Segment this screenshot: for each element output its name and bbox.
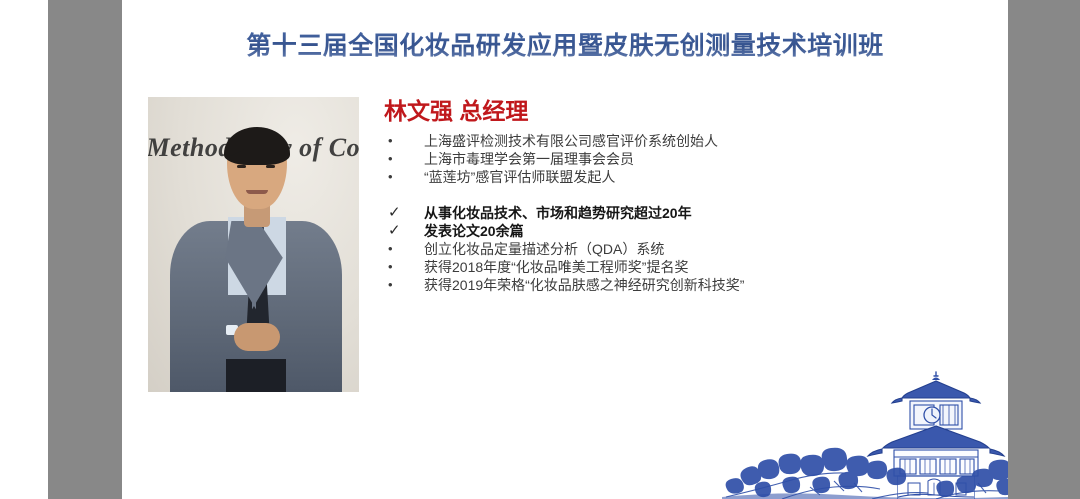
credential-row: ✓发表论文20余篇 (384, 222, 984, 240)
credential-text: 获得2019年荣格“化妆品肤感之神经研究创新科技奖” (424, 276, 744, 294)
person-figure (148, 97, 359, 392)
eye-right (266, 165, 275, 168)
credential-row: •创立化妆品定量描述分析（QDA）系统 (384, 240, 984, 258)
bullet-icon: • (384, 132, 424, 150)
trousers (226, 359, 286, 392)
bullet-icon: • (384, 240, 424, 258)
credential-row: •上海市毒理学会第一届理事会会员 (384, 150, 984, 168)
credentials-list: •上海盛评检测技术有限公司感官评价系统创始人•上海市毒理学会第一届理事会会员•“… (384, 132, 984, 294)
pagoda-ginkgo-illustration (722, 371, 1008, 499)
credential-text: 创立化妆品定量描述分析（QDA）系统 (424, 240, 664, 258)
bullet-icon: • (384, 168, 424, 186)
credential-row: ✓从事化妆品技术、市场和趋势研究超过20年 (384, 204, 984, 222)
credential-text: 发表论文20余篇 (424, 222, 524, 240)
credential-row: •获得2019年荣格“化妆品肤感之神经研究创新科技奖” (384, 276, 984, 294)
credential-row: •“蓝莲坊”感官评估师联盟发起人 (384, 168, 984, 186)
bullet-icon: • (384, 276, 424, 294)
slide-viewer: 第十三届全国化妆品研发应用暨皮肤无创测量技术培训班 a Methodology … (0, 0, 1080, 499)
credential-text: 上海市毒理学会第一届理事会会员 (424, 150, 634, 168)
speaker-name-and-role: 林文强 总经理 (384, 92, 528, 126)
credential-row: •上海盛评检测技术有限公司感官评价系统创始人 (384, 132, 984, 150)
credential-text: 获得2018年度“化妆品唯美工程师奖”提名奖 (424, 258, 688, 276)
speaker-portrait: a Methodology of Co (148, 97, 359, 392)
clasped-hands (234, 323, 280, 351)
presentation-slide: 第十三届全国化妆品研发应用暨皮肤无创测量技术培训班 a Methodology … (122, 0, 1008, 499)
credential-text: 从事化妆品技术、市场和趋势研究超过20年 (424, 204, 692, 222)
checkmark-icon: ✓ (384, 204, 424, 222)
letterbox-right (1008, 0, 1080, 499)
hair (224, 127, 290, 165)
credential-text: “蓝莲坊”感官评估师联盟发起人 (424, 168, 615, 186)
bullet-icon: • (384, 258, 424, 276)
mouth (246, 190, 268, 194)
slide-title: 第十三届全国化妆品研发应用暨皮肤无创测量技术培训班 (122, 26, 1008, 62)
checkmark-icon: ✓ (384, 222, 424, 240)
eye-left (237, 165, 246, 168)
bullet-icon: • (384, 150, 424, 168)
letterbox-left (48, 0, 122, 499)
credential-row: •获得2018年度“化妆品唯美工程师奖”提名奖 (384, 258, 984, 276)
credential-text: 上海盛评检测技术有限公司感官评价系统创始人 (424, 132, 718, 150)
